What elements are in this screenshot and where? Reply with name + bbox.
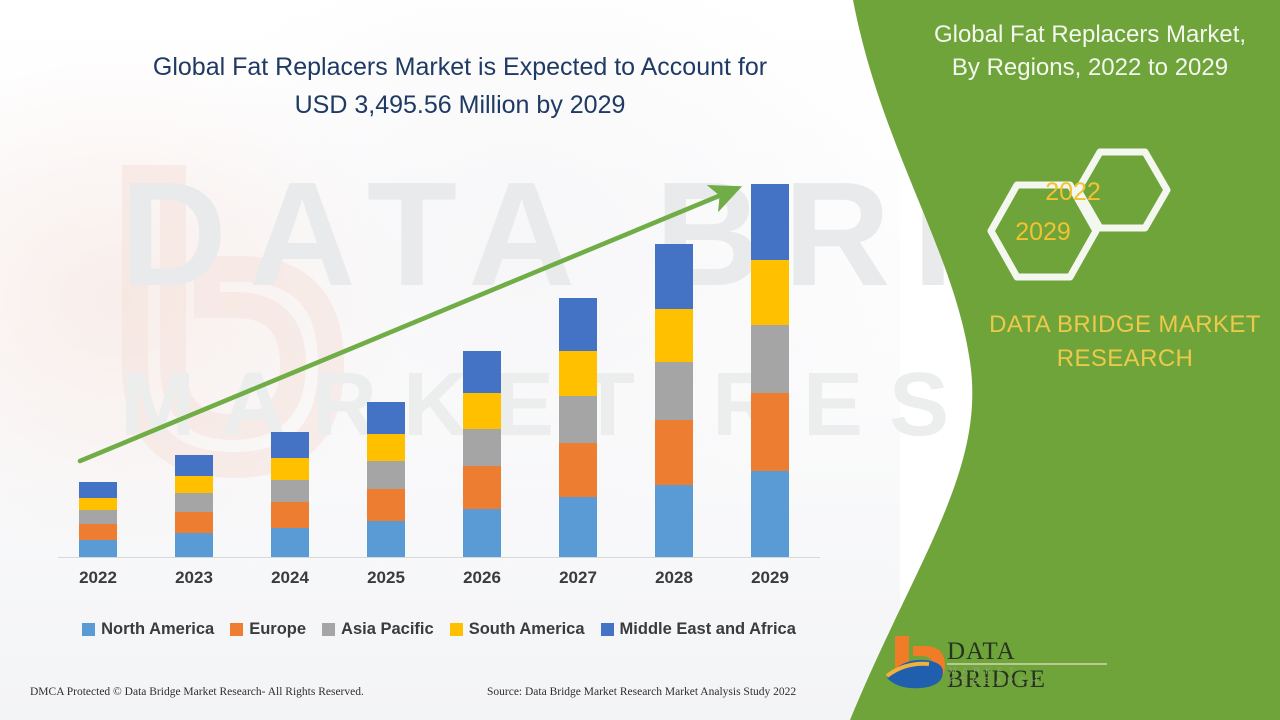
bar-segment-asia-pacific-2025 bbox=[367, 461, 405, 489]
bar-segment-north-america-2027 bbox=[559, 497, 597, 557]
legend-item-north-america[interactable]: North America bbox=[82, 620, 214, 639]
bar-segment-north-america-2026 bbox=[463, 509, 501, 556]
chart-legend: North AmericaEuropeAsia PacificSouth Ame… bbox=[58, 616, 820, 642]
legend-swatch-icon bbox=[322, 623, 335, 636]
bar-segment-europe-2027 bbox=[559, 443, 597, 497]
bar-segment-europe-2023 bbox=[175, 512, 213, 533]
legend-label: North America bbox=[101, 620, 214, 639]
footer-copyright: DMCA Protected © Data Bridge Market Rese… bbox=[30, 686, 364, 698]
bar-segment-south-america-2022 bbox=[79, 498, 117, 511]
bar-segment-asia-pacific-2023 bbox=[175, 493, 213, 512]
bar-segment-middle-east-and-africa-2026 bbox=[463, 351, 501, 393]
bar-segment-north-america-2029 bbox=[751, 471, 789, 557]
bar-segment-south-america-2028 bbox=[655, 309, 693, 363]
stacked-bar-2029 bbox=[751, 184, 789, 557]
legend-swatch-icon bbox=[450, 623, 463, 636]
legend-swatch-icon bbox=[601, 623, 614, 636]
bar-segment-europe-2022 bbox=[79, 524, 117, 540]
bar-segment-north-america-2022 bbox=[79, 540, 117, 557]
bar-segment-south-america-2024 bbox=[271, 458, 309, 480]
legend-item-asia-pacific[interactable]: Asia Pacific bbox=[322, 620, 434, 639]
hexagon-badges: 2022 2029 bbox=[975, 140, 1195, 290]
bar-segment-middle-east-and-africa-2028 bbox=[655, 244, 693, 308]
x-axis-line bbox=[58, 557, 820, 558]
bar-segment-north-america-2028 bbox=[655, 485, 693, 557]
panel-title-line-2: By Regions, 2022 to 2029 bbox=[905, 51, 1275, 84]
legend-label: Europe bbox=[249, 620, 306, 639]
panel-title: Global Fat Replacers Market, By Regions,… bbox=[905, 18, 1275, 84]
x-axis-label-2028: 2028 bbox=[634, 568, 714, 588]
hexagon-shapes bbox=[975, 140, 1195, 290]
bar-segment-europe-2025 bbox=[367, 489, 405, 521]
slide-root: DATA BRIDGE MARKET RESEARCH Global Fat R… bbox=[0, 0, 1280, 720]
bar-segment-asia-pacific-2024 bbox=[271, 480, 309, 503]
bar-segment-middle-east-and-africa-2025 bbox=[367, 402, 405, 434]
bar-segment-south-america-2027 bbox=[559, 351, 597, 396]
bar-segment-north-america-2024 bbox=[271, 528, 309, 557]
legend-swatch-icon bbox=[82, 623, 95, 636]
bar-segment-south-america-2029 bbox=[751, 260, 789, 324]
bar-segment-south-america-2025 bbox=[367, 434, 405, 461]
stacked-bar-2027 bbox=[559, 298, 597, 557]
bar-segment-asia-pacific-2022 bbox=[79, 510, 117, 524]
legend-swatch-icon bbox=[230, 623, 243, 636]
stacked-bar-2025 bbox=[367, 402, 405, 557]
bar-segment-south-america-2023 bbox=[175, 476, 213, 494]
legend-label: Asia Pacific bbox=[341, 620, 434, 639]
x-axis-label-2024: 2024 bbox=[250, 568, 330, 588]
bar-segment-north-america-2025 bbox=[367, 521, 405, 557]
legend-item-middle-east-and-africa[interactable]: Middle East and Africa bbox=[601, 620, 796, 639]
bar-segment-middle-east-and-africa-2024 bbox=[271, 432, 309, 458]
legend-label: Middle East and Africa bbox=[620, 620, 796, 639]
x-axis-label-2025: 2025 bbox=[346, 568, 426, 588]
stacked-bar-2028 bbox=[655, 244, 693, 557]
stacked-bar-2022 bbox=[79, 482, 117, 557]
panel-brand-line-1: DATA BRIDGE MARKET bbox=[960, 308, 1280, 342]
x-axis-label-2026: 2026 bbox=[442, 568, 522, 588]
logo-divider bbox=[947, 663, 1107, 665]
stacked-bar-2024 bbox=[271, 432, 309, 557]
bar-segment-asia-pacific-2028 bbox=[655, 362, 693, 419]
bar-segment-europe-2024 bbox=[271, 502, 309, 528]
panel-brand-text: DATA BRIDGE MARKET RESEARCH bbox=[960, 308, 1280, 376]
panel-brand-line-2: RESEARCH bbox=[960, 342, 1280, 376]
hexagon-2029-label: 2029 bbox=[933, 218, 1153, 247]
legend-item-south-america[interactable]: South America bbox=[450, 620, 585, 639]
logo-tagline: MARKET RESEARCH bbox=[949, 666, 1115, 686]
legend-label: South America bbox=[469, 620, 585, 639]
x-axis-label-2022: 2022 bbox=[58, 568, 138, 588]
bar-segment-asia-pacific-2029 bbox=[751, 325, 789, 393]
hexagon-2022-label: 2022 bbox=[1018, 178, 1128, 207]
footer-source: Source: Data Bridge Market Research Mark… bbox=[487, 686, 796, 698]
x-axis-label-2027: 2027 bbox=[538, 568, 618, 588]
bar-segment-middle-east-and-africa-2029 bbox=[751, 184, 789, 260]
bar-segment-europe-2029 bbox=[751, 393, 789, 471]
bar-segment-north-america-2023 bbox=[175, 533, 213, 557]
x-axis-label-2029: 2029 bbox=[730, 568, 810, 588]
bar-segment-europe-2028 bbox=[655, 420, 693, 485]
panel-title-line-1: Global Fat Replacers Market, bbox=[905, 18, 1275, 51]
data-bridge-logo: DATA BRIDGE MARKET RESEARCH bbox=[885, 632, 1115, 694]
bar-segment-south-america-2026 bbox=[463, 393, 501, 429]
x-axis-label-2023: 2023 bbox=[154, 568, 234, 588]
stacked-bar-2023 bbox=[175, 455, 213, 557]
bar-segment-asia-pacific-2026 bbox=[463, 429, 501, 467]
bar-segment-europe-2026 bbox=[463, 466, 501, 509]
bar-segment-asia-pacific-2027 bbox=[559, 396, 597, 443]
stacked-bar-2026 bbox=[463, 351, 501, 557]
legend-item-europe[interactable]: Europe bbox=[230, 620, 306, 639]
bar-segment-middle-east-and-africa-2023 bbox=[175, 455, 213, 476]
bar-segment-middle-east-and-africa-2022 bbox=[79, 482, 117, 497]
bar-segment-middle-east-and-africa-2027 bbox=[559, 298, 597, 351]
data-bridge-logo-mark bbox=[885, 634, 947, 692]
chart-plot-area: 20222023202420252026202720282029 bbox=[0, 0, 900, 600]
